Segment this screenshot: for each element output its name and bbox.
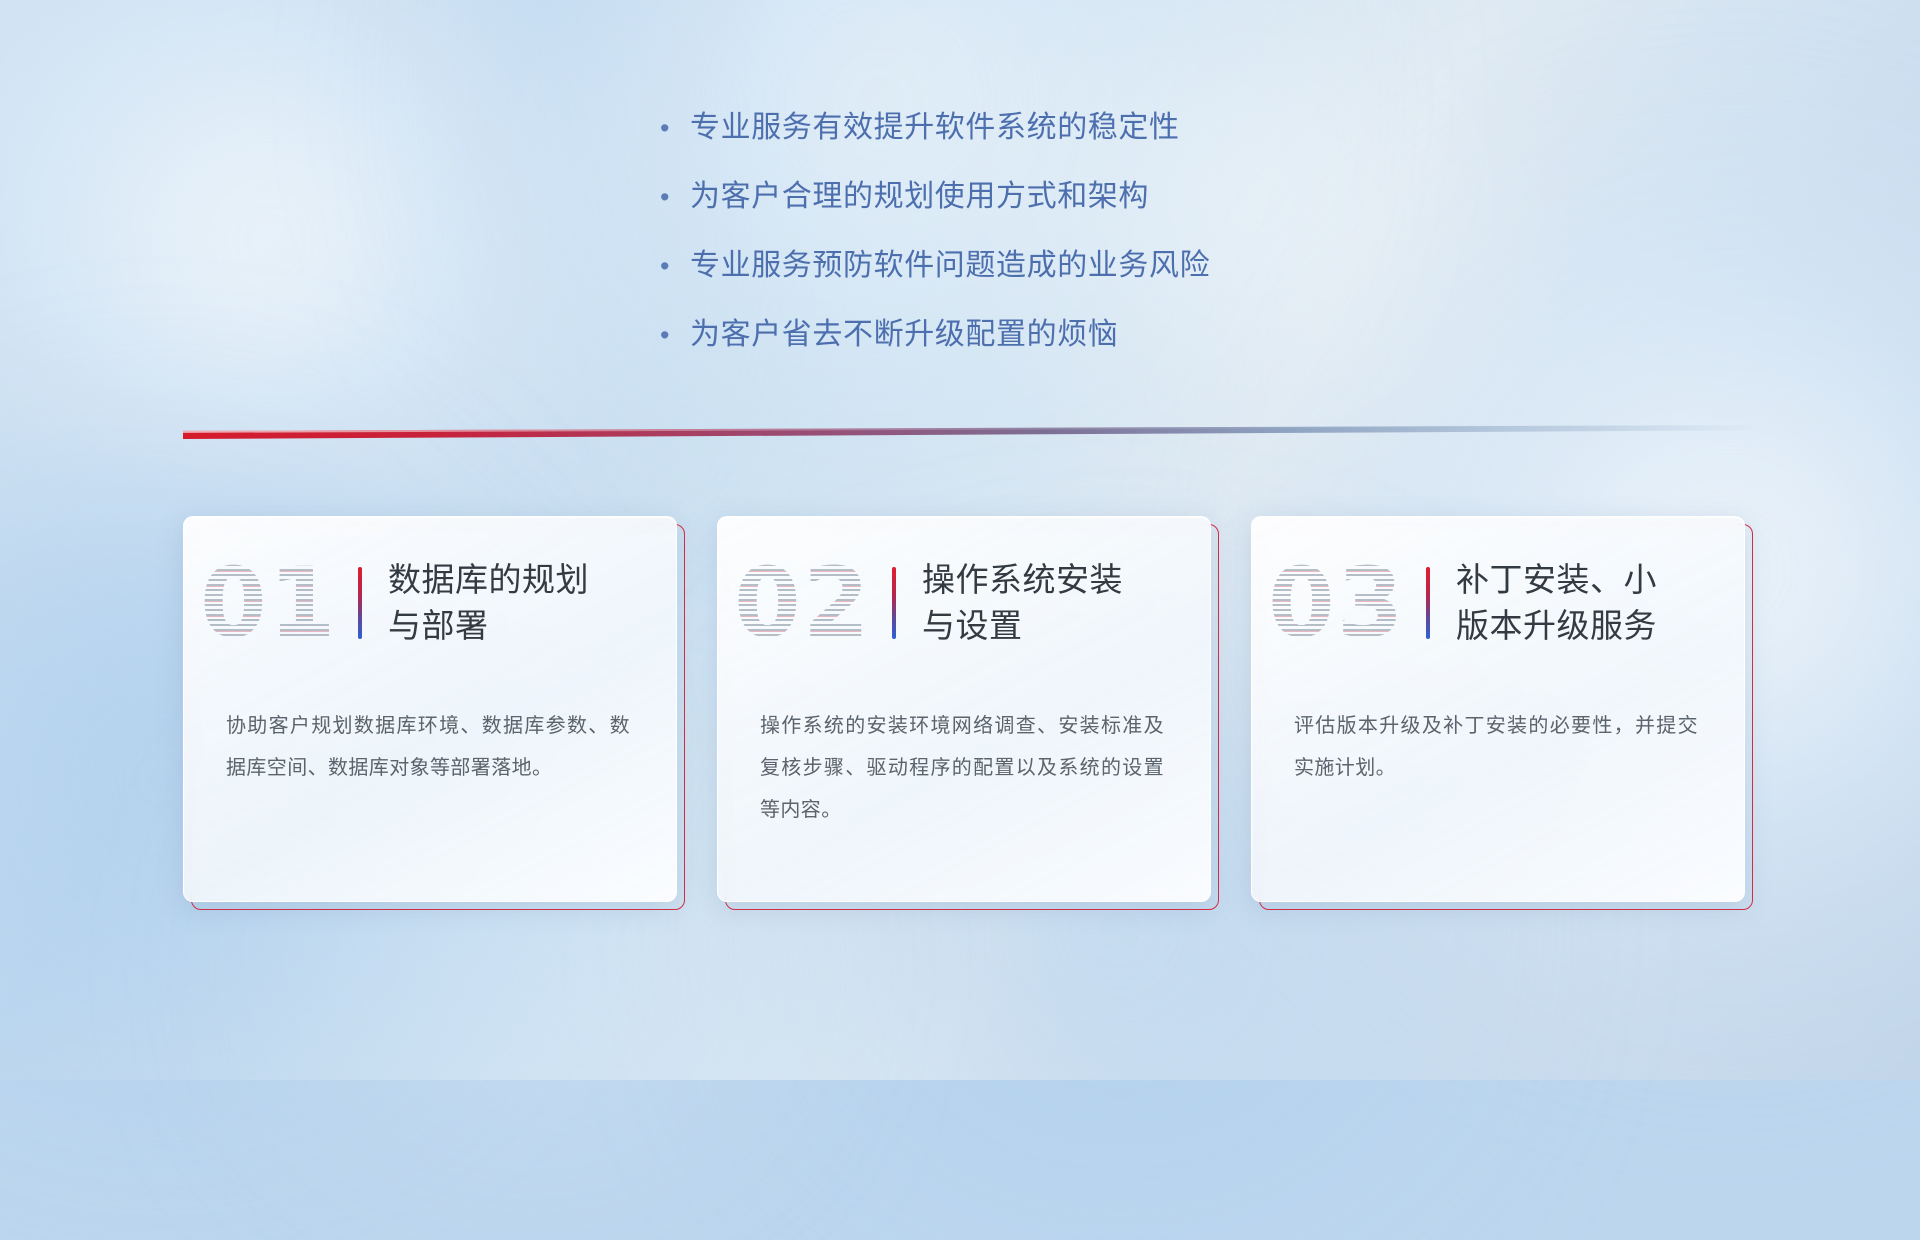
card-description: 协助客户规划数据库环境、数据库参数、数据库空间、数据库对象等部署落地。 <box>226 705 630 789</box>
card-surface: 01 01 数据库的规划 与部署 协助客户规划数据库环境、数据库参数、数据库空间… <box>183 516 677 902</box>
card-title: 数据库的规划 与部署 <box>388 557 599 649</box>
card-title: 操作系统安装 与设置 <box>922 557 1133 649</box>
bullet-marker-icon: • <box>660 177 690 217</box>
bullet-marker-icon: • <box>660 108 690 148</box>
section-divider <box>183 425 1761 439</box>
list-item: • 专业服务有效提升软件系统的稳定性 <box>660 108 1210 148</box>
card-divider-bar <box>892 567 896 639</box>
list-item-label: 为客户省去不断升级配置的烦恼 <box>690 315 1118 355</box>
card-title-line-1: 操作系统安装 <box>922 557 1123 603</box>
list-item: • 为客户合理的规划使用方式和架构 <box>660 177 1210 217</box>
card-number-watermark: 03 03 <box>1268 549 1420 657</box>
card-title-line-2: 版本升级服务 <box>1456 603 1657 649</box>
service-card-02[interactable]: 02 02 操作系统安装 与设置 操作系统的安装环境网络调查、安装标准及复核步骤… <box>717 516 1209 900</box>
list-item-label: 专业服务预防软件问题造成的业务风险 <box>690 246 1210 286</box>
card-title: 补丁安装、小 版本升级服务 <box>1456 557 1667 649</box>
card-description: 评估版本升级及补丁安装的必要性，并提交实施计划。 <box>1294 705 1698 789</box>
card-title-line-1: 数据库的规划 <box>388 557 589 603</box>
bullet-marker-icon: • <box>660 246 690 286</box>
card-title-line-2: 与部署 <box>388 603 589 649</box>
card-title-line-1: 补丁安装、小 <box>1456 557 1657 603</box>
card-number-tint: 01 <box>200 549 352 657</box>
benefits-bullet-list: • 专业服务有效提升软件系统的稳定性 • 为客户合理的规划使用方式和架构 • 专… <box>660 108 1210 384</box>
service-cards: 01 01 数据库的规划 与部署 协助客户规划数据库环境、数据库参数、数据库空间… <box>183 516 1743 916</box>
card-header: 01 01 数据库的规划 与部署 <box>184 543 676 663</box>
card-divider-bar <box>358 567 362 639</box>
card-divider-bar <box>1426 567 1430 639</box>
list-item: • 专业服务预防软件问题造成的业务风险 <box>660 246 1210 286</box>
list-item: • 为客户省去不断升级配置的烦恼 <box>660 315 1210 355</box>
card-number-tint: 02 <box>734 549 886 657</box>
card-surface: 02 02 操作系统安装 与设置 操作系统的安装环境网络调查、安装标准及复核步骤… <box>717 516 1211 902</box>
service-card-03[interactable]: 03 03 补丁安装、小 版本升级服务 评估版本升级及补丁安装的必要性，并提交实… <box>1251 516 1743 900</box>
card-header: 03 03 补丁安装、小 版本升级服务 <box>1252 543 1744 663</box>
service-card-01[interactable]: 01 01 数据库的规划 与部署 协助客户规划数据库环境、数据库参数、数据库空间… <box>183 516 675 900</box>
card-header: 02 02 操作系统安装 与设置 <box>718 543 1210 663</box>
list-item-label: 专业服务有效提升软件系统的稳定性 <box>690 108 1180 148</box>
card-number-tint: 03 <box>1268 549 1420 657</box>
card-number-watermark: 02 02 <box>734 549 886 657</box>
card-number-watermark: 01 01 <box>200 549 352 657</box>
list-item-label: 为客户合理的规划使用方式和架构 <box>690 177 1149 217</box>
card-title-line-2: 与设置 <box>922 603 1123 649</box>
card-surface: 03 03 补丁安装、小 版本升级服务 评估版本升级及补丁安装的必要性，并提交实… <box>1251 516 1745 902</box>
card-description: 操作系统的安装环境网络调查、安装标准及复核步骤、驱动程序的配置以及系统的设置等内… <box>760 705 1164 831</box>
bullet-marker-icon: • <box>660 315 690 355</box>
